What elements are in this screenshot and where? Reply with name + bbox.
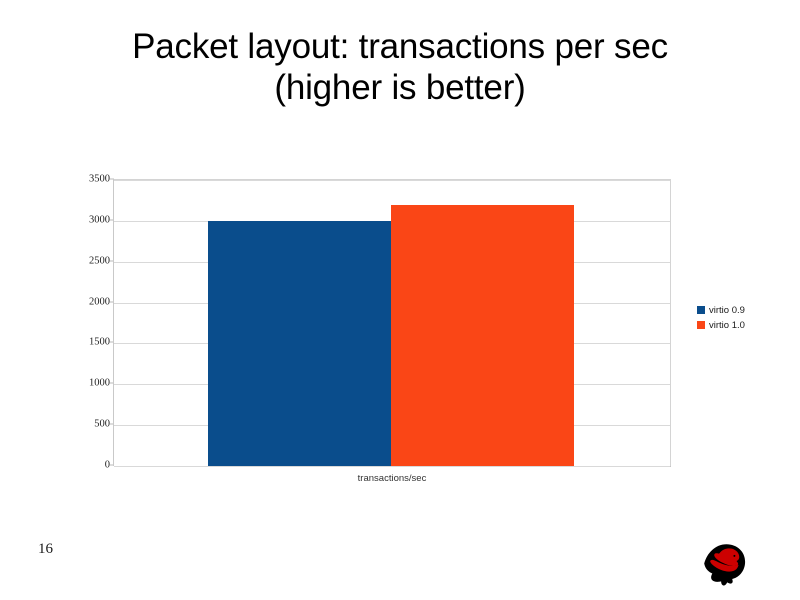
- gridline-3500: [114, 180, 670, 181]
- legend-swatch-icon: [697, 321, 705, 329]
- red-hat-shadowman-logo: [698, 541, 754, 589]
- y-axis-tick-3500: 3500: [60, 174, 110, 185]
- gridline-0: [114, 466, 670, 467]
- slide-page-number: 16: [38, 540, 53, 558]
- page-title-line-2: (higher is better): [40, 67, 760, 108]
- y-axis-tick-labels: 0500100015002000250030003500: [60, 165, 110, 485]
- bar-chart: 0500100015002000250030003500 transaction…: [60, 165, 760, 495]
- bar-series-virtio-1-0: [391, 205, 574, 466]
- y-axis-tick-2500: 2500: [60, 255, 110, 266]
- page-title-line-1: Packet layout: transactions per sec: [40, 26, 760, 67]
- legend-item[interactable]: virtio 1.0: [697, 318, 797, 332]
- bar-series-virtio-0-9: [208, 221, 391, 466]
- y-axis-tick-1000: 1000: [60, 378, 110, 389]
- legend-swatch-icon: [697, 306, 705, 314]
- chart-legend: virtio 0.9virtio 1.0: [697, 303, 797, 333]
- y-axis-tick-0: 0: [60, 460, 110, 471]
- legend-item[interactable]: virtio 0.9: [697, 303, 797, 317]
- plot-area: [114, 179, 671, 467]
- legend-label: virtio 0.9: [709, 305, 745, 316]
- y-axis-tick-3000: 3000: [60, 214, 110, 225]
- y-axis-tick-2000: 2000: [60, 296, 110, 307]
- page-title: Packet layout: transactions per sec (hig…: [40, 26, 760, 108]
- y-axis-tick-500: 500: [60, 419, 110, 430]
- y-axis-tick-1500: 1500: [60, 337, 110, 348]
- legend-label: virtio 1.0: [709, 320, 745, 331]
- x-axis-category-label: transactions/sec: [114, 473, 670, 485]
